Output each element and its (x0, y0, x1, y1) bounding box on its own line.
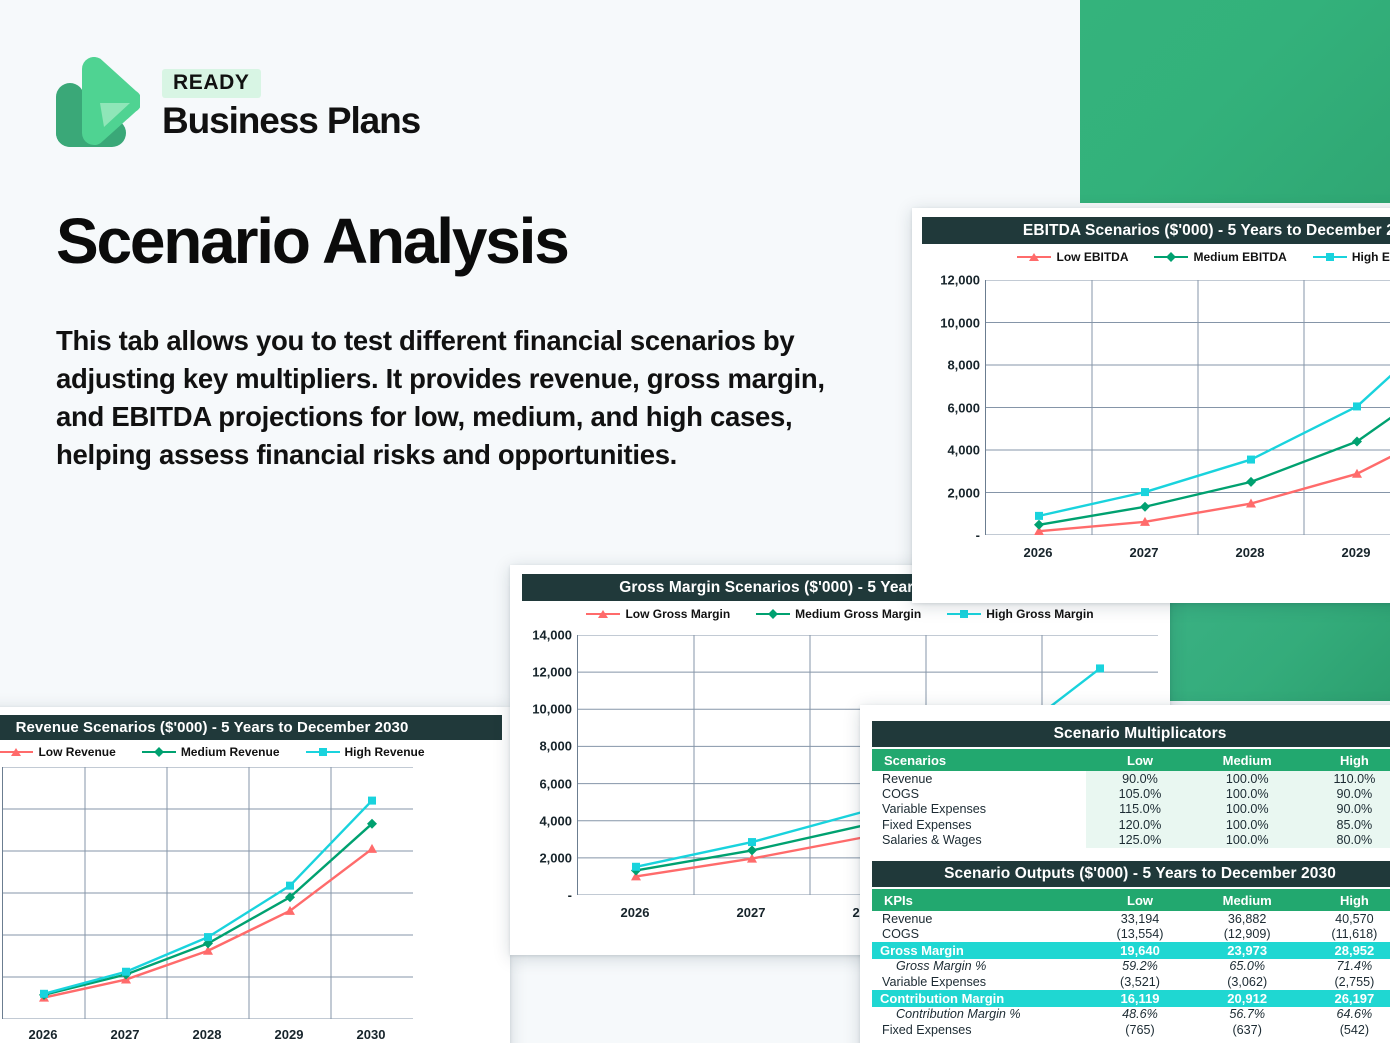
revenue-chart-card: Revenue Scenarios ($'000) - 5 Years to D… (0, 707, 510, 1043)
y-axis-tick: 10,000 (940, 315, 980, 330)
table-row: Salaries & Wages125.0%100.0%80.0% (872, 833, 1390, 848)
outputs-title: Scenario Outputs ($'000) - 5 Years to De… (872, 861, 1390, 887)
legend-item-medium-revenue: Medium Revenue (142, 745, 280, 759)
multiplicators-col-scenarios: Scenarios (872, 749, 1086, 771)
cell-low: 105.0% (1086, 786, 1193, 801)
y-axis-tick: 2,000 (539, 850, 572, 865)
x-axis-tick: 2030 (330, 1027, 412, 1042)
ebitda-chart-legend: Low EBITDA Medium EBITDA High EBITDA (922, 250, 1390, 264)
legend-item-low-gross-margin: Low Gross Margin (586, 607, 730, 621)
cell-medium: 36,882 (1194, 911, 1301, 926)
cell-medium: (637) (1194, 1022, 1301, 1037)
cell-high: (2,755) (1301, 974, 1390, 989)
table-row: Variable Expenses(3,521)(3,062)(2,755) (872, 974, 1390, 989)
y-axis-tick: 14,000 (532, 628, 572, 643)
outputs-header-row: KPIsLowMediumHigh (872, 889, 1390, 911)
x-axis-tick: 2027 (693, 905, 809, 920)
y-axis-tick: - (976, 528, 980, 543)
cell-medium: 20,912 (1194, 990, 1301, 1007)
row-label: COGS (872, 926, 1086, 941)
cell-high: (11,618) (1301, 926, 1390, 941)
x-axis-tick: 2029 (248, 1027, 330, 1042)
outputs-body: Revenue33,19436,88240,570COGS(13,554)(12… (872, 911, 1390, 1037)
ebitda-plot (985, 280, 1390, 535)
table-row: Gross Margin %59.2%65.0%71.4% (872, 959, 1390, 974)
outputs-col-low: Low (1086, 889, 1193, 911)
cell-high: (542) (1301, 1022, 1390, 1037)
multiplicators-col-high: High (1301, 749, 1390, 771)
y-axis-tick: - (568, 888, 572, 903)
cell-medium: 65.0% (1194, 959, 1301, 974)
cell-medium: 23,973 (1194, 942, 1301, 959)
cell-low: (13,554) (1086, 926, 1193, 941)
multiplicators-header-row: ScenariosLowMediumHigh (872, 749, 1390, 771)
cell-high: 90.0% (1301, 786, 1390, 801)
cell-low: 59.2% (1086, 959, 1193, 974)
legend-item-high-gross-margin: High Gross Margin (947, 607, 1093, 621)
table-row: Revenue90.0%100.0%110.0% (872, 771, 1390, 786)
row-label: Fixed Expenses (872, 1022, 1086, 1037)
row-label: Contribution Margin (872, 990, 1086, 1007)
row-label: Revenue (872, 771, 1086, 786)
row-label: Gross Margin (872, 942, 1086, 959)
table-row: COGS(13,554)(12,909)(11,618) (872, 926, 1390, 941)
ebitda-chart-card: EBITDA Scenarios ($'000) - 5 Years to De… (912, 208, 1390, 603)
row-label: Gross Margin % (872, 959, 1086, 974)
cell-high: 71.4% (1301, 959, 1390, 974)
cell-high: 80.0% (1301, 833, 1390, 848)
table-row: Variable Expenses115.0%100.0%90.0% (872, 802, 1390, 817)
table-row: Fixed Expenses120.0%100.0%85.0% (872, 817, 1390, 832)
brand-name: Business Plans (162, 102, 420, 141)
gross-margin-chart-legend: Low Gross Margin Medium Gross Margin Hig… (522, 607, 1158, 621)
brand-logo: READY Business Plans (56, 57, 420, 149)
x-axis-tick: 2028 (166, 1027, 248, 1042)
cell-low: 48.6% (1086, 1007, 1193, 1022)
page-title: Scenario Analysis (56, 208, 568, 275)
revenue-plot (2, 767, 412, 1019)
x-axis-tick: 2027 (1091, 545, 1197, 560)
slide-canvas: READY Business Plans Scenario Analysis T… (0, 0, 1390, 1043)
row-label: Revenue (872, 911, 1086, 926)
revenue-plot-area: -2,0004,0006,0008,00010,00012,000 202620… (0, 767, 510, 1043)
x-axis-tick: 2026 (577, 905, 693, 920)
cell-low: 33,194 (1086, 911, 1193, 926)
legend-item-medium-gross-margin: Medium Gross Margin (756, 607, 921, 621)
row-label: Fixed Expenses (872, 817, 1086, 832)
ebitda-plot-area: -2,0004,0006,0008,00010,00012,000 202620… (912, 280, 1390, 600)
table-row: Contribution Margin %48.6%56.7%64.6% (872, 1007, 1390, 1022)
cell-high: 40,570 (1301, 911, 1390, 926)
cell-medium: 100.0% (1194, 833, 1301, 848)
y-axis-tick: 10,000 (532, 702, 572, 717)
scenario-tables-card: Scenario Multiplicators ScenariosLowMedi… (860, 705, 1390, 1043)
cell-low: (765) (1086, 1022, 1193, 1037)
cell-medium: 100.0% (1194, 771, 1301, 786)
cell-low: 115.0% (1086, 802, 1193, 817)
cell-medium: 100.0% (1194, 786, 1301, 801)
y-axis-tick: 6,000 (539, 776, 572, 791)
table-row: Contribution Margin16,11920,91226,197 (872, 990, 1390, 1007)
cell-medium: (3,062) (1194, 974, 1301, 989)
row-label: Salaries & Wages (872, 833, 1086, 848)
outputs-col-medium: Medium (1194, 889, 1301, 911)
y-axis-tick: 12,000 (940, 273, 980, 288)
cell-high: 28,952 (1301, 942, 1390, 959)
table-row: Gross Margin19,64023,97328,952 (872, 942, 1390, 959)
cell-medium: 100.0% (1194, 817, 1301, 832)
legend-item-low-ebitda: Low EBITDA (1017, 250, 1128, 264)
outputs-col-high: High (1301, 889, 1390, 911)
ebitda-chart-title: EBITDA Scenarios ($'000) - 5 Years to De… (922, 217, 1390, 244)
cell-high: 85.0% (1301, 817, 1390, 832)
x-axis-tick: 2029 (1303, 545, 1390, 560)
x-axis-tick: 2028 (1197, 545, 1303, 560)
decorative-green-block-middle (1170, 591, 1390, 701)
cell-high: 64.6% (1301, 1007, 1390, 1022)
cell-medium: 56.7% (1194, 1007, 1301, 1022)
ebitda-x-axis-labels: 20262027202820292030 (985, 545, 1390, 560)
ready-badge: READY (162, 69, 261, 99)
y-axis-tick: 4,000 (539, 813, 572, 828)
cell-medium: 100.0% (1194, 802, 1301, 817)
ebitda-y-axis: -2,0004,0006,0008,00010,00012,000 (912, 280, 980, 535)
y-axis-tick: 2,000 (947, 485, 980, 500)
y-axis-tick: 8,000 (539, 739, 572, 754)
multiplicators-title: Scenario Multiplicators (872, 721, 1390, 747)
multiplicators-col-medium: Medium (1194, 749, 1301, 771)
legend-item-high-ebitda: High EBITDA (1313, 250, 1390, 264)
outputs-col-kpis: KPIs (872, 889, 1086, 911)
decorative-green-block-top (1080, 0, 1390, 203)
cell-low: 120.0% (1086, 817, 1193, 832)
play-triangle-logo-icon (56, 57, 140, 149)
y-axis-tick: 6,000 (947, 400, 980, 415)
cell-low: 125.0% (1086, 833, 1193, 848)
page-description: This tab allows you to test different fi… (56, 322, 846, 474)
x-axis-tick: 2026 (985, 545, 1091, 560)
cell-medium: (12,909) (1194, 926, 1301, 941)
legend-item-low-revenue: Low Revenue (0, 745, 116, 759)
x-axis-tick: 2027 (84, 1027, 166, 1042)
cell-high: 110.0% (1301, 771, 1390, 786)
table-row: COGS105.0%100.0%90.0% (872, 786, 1390, 801)
row-label: COGS (872, 786, 1086, 801)
table-row: Revenue33,19436,88240,570 (872, 911, 1390, 926)
y-axis-tick: 12,000 (532, 665, 572, 680)
cell-low: 19,640 (1086, 942, 1193, 959)
x-axis-tick: 2026 (2, 1027, 84, 1042)
table-row: Fixed Expenses(765)(637)(542) (872, 1022, 1390, 1037)
multiplicators-col-low: Low (1086, 749, 1193, 771)
cell-low: (3,521) (1086, 974, 1193, 989)
legend-item-high-revenue: High Revenue (306, 745, 425, 759)
cell-low: 16,119 (1086, 990, 1193, 1007)
y-axis-tick: 4,000 (947, 443, 980, 458)
revenue-chart-title: Revenue Scenarios ($'000) - 5 Years to D… (0, 715, 502, 740)
revenue-chart-legend: Low Revenue Medium Revenue High Revenue (0, 745, 502, 759)
gross-margin-y-axis: -2,0004,0006,0008,00010,00012,00014,000 (510, 635, 572, 895)
multiplicators-body: Revenue90.0%100.0%110.0%COGS105.0%100.0%… (872, 771, 1390, 848)
scenario-multiplicators-table: ScenariosLowMediumHigh Revenue90.0%100.0… (872, 749, 1390, 848)
scenario-outputs-table: KPIsLowMediumHigh Revenue33,19436,88240,… (872, 889, 1390, 1037)
row-label: Contribution Margin % (872, 1007, 1086, 1022)
revenue-x-axis-labels: 20262027202820292030 (2, 1027, 412, 1042)
y-axis-tick: 8,000 (947, 358, 980, 373)
cell-high: 26,197 (1301, 990, 1390, 1007)
legend-item-medium-ebitda: Medium EBITDA (1154, 250, 1286, 264)
cell-high: 90.0% (1301, 802, 1390, 817)
row-label: Variable Expenses (872, 802, 1086, 817)
row-label: Variable Expenses (872, 974, 1086, 989)
cell-low: 90.0% (1086, 771, 1193, 786)
